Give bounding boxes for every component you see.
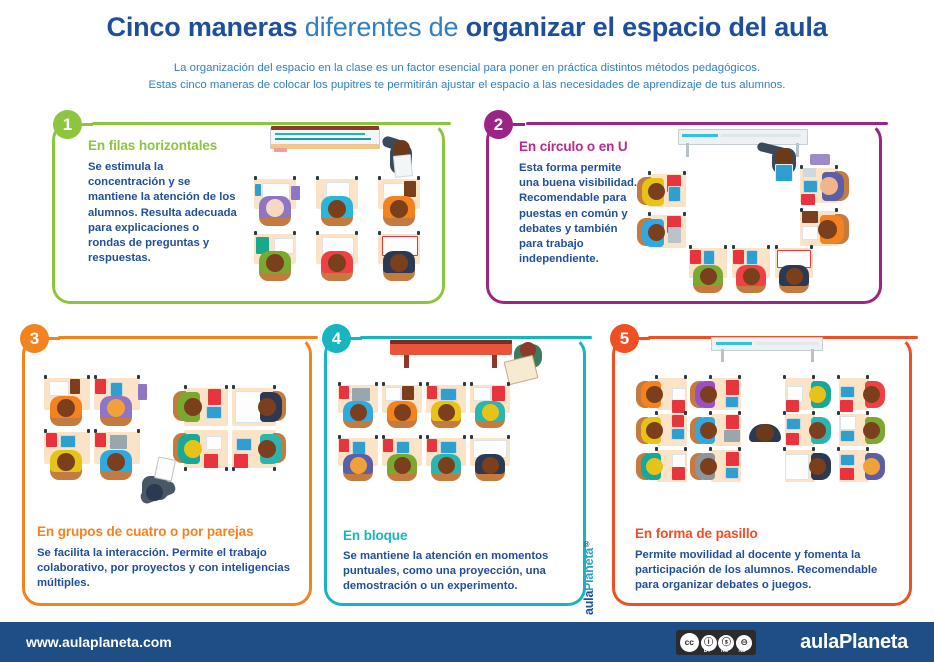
card-3-heading: En grupos de cuatro o por parejas: [37, 524, 254, 539]
cc-label-nc: NC: [721, 648, 728, 654]
title-part-3: organizar el espacio del aula: [466, 12, 828, 42]
page-title: Cinco maneras diferentes de organizar el…: [0, 12, 934, 43]
whiteboard: [711, 337, 823, 351]
page-subtitle: La organización del espacio en la clase …: [0, 60, 934, 94]
whiteboard-leg: [721, 349, 724, 362]
card-4-heading: En bloque: [343, 528, 407, 543]
badge-1-label: 1: [63, 116, 72, 133]
card-5-heading: En forma de pasillo: [635, 526, 758, 541]
badge-3-dash: [47, 337, 60, 340]
cc-label-nd: ND: [738, 648, 745, 654]
whiteboard-leg: [796, 143, 799, 157]
card-2-body: Esta forma permite una buena visibilidad…: [519, 161, 639, 267]
whiteboard: [270, 128, 380, 149]
subtitle-line-2: Estas cinco maneras de colocar los pupit…: [0, 77, 934, 94]
creative-commons-license-icon: cc ⓘ ⓢ ⊖ CC BY NC ND: [676, 630, 756, 655]
card-1-heading: En filas horizontales: [88, 138, 217, 153]
badge-number-3: 3: [20, 324, 49, 353]
teacher-head: [146, 484, 163, 501]
subtitle-line-1: La organización del espacio en la clase …: [0, 60, 934, 77]
teacher-clipboard: [393, 154, 413, 178]
infographic-page: Cinco maneras diferentes de organizar el…: [0, 0, 934, 662]
illustration-classroom-block: [334, 340, 574, 510]
badge-5-label: 5: [620, 330, 629, 347]
watermark-aulaplaneta: aulaPlaneta®: [582, 520, 604, 615]
illustration-classroom-groups-of-four: [36, 360, 298, 512]
badge-number-4: 4: [322, 324, 351, 353]
footer-url[interactable]: www.aulaplaneta.com: [26, 634, 172, 650]
teacher-clipboard: [154, 456, 176, 481]
badge-4-label: 4: [332, 330, 341, 347]
card-3-body: Se facilita la interacción. Permite el t…: [37, 546, 292, 592]
teacher-tablet: [775, 164, 793, 182]
card-1-body: Se estimula la concentración y se mantie…: [88, 160, 238, 266]
card-5-body: Permite movilidad al docente y fomenta l…: [635, 548, 897, 594]
footer-bar: www.aulaplaneta.com cc ⓘ ⓢ ⊖ CC BY NC ND…: [0, 622, 934, 662]
card-2-top-border: [526, 122, 888, 125]
badge-number-2: 2: [484, 110, 513, 139]
illustration-classroom-rows: [244, 126, 440, 298]
title-part-1: Cinco maneras: [107, 12, 298, 42]
cc-labels: CC BY NC ND: [676, 648, 756, 654]
badge-2-dash: [512, 123, 525, 126]
badge-number-1: 1: [53, 110, 82, 139]
card-1-top-border: [92, 122, 451, 125]
badge-2-label: 2: [494, 116, 503, 133]
badge-number-5: 5: [610, 324, 639, 353]
badge-1-dash: [80, 123, 93, 126]
card-4-top-border: [360, 336, 592, 339]
badge-3-label: 3: [30, 330, 39, 347]
whiteboard-leg: [811, 349, 814, 362]
teacher-head: [756, 424, 774, 442]
badge-4-dash: [349, 337, 362, 340]
card-3-top-border: [58, 336, 318, 339]
illustration-classroom-u-shape: [634, 126, 874, 302]
title-part-2: diferentes de: [298, 12, 466, 42]
card-4-body: Se mantiene la atención en momentos punt…: [343, 549, 573, 595]
watermark-prefix: aula: [582, 591, 596, 615]
teacher-newspaper: [504, 355, 539, 386]
watermark-registered: ®: [582, 539, 591, 548]
watermark-brand: Planeta: [582, 548, 596, 591]
footer-brand: aulaPlaneta: [800, 631, 908, 654]
cc-label-by: BY: [704, 648, 711, 654]
illustration-classroom-corridor: [625, 336, 905, 514]
badge-5-dash: [637, 337, 650, 340]
card-2-heading: En círculo o en U: [519, 139, 628, 154]
whiteboard: [678, 129, 808, 145]
whiteboard-leg: [686, 143, 689, 157]
